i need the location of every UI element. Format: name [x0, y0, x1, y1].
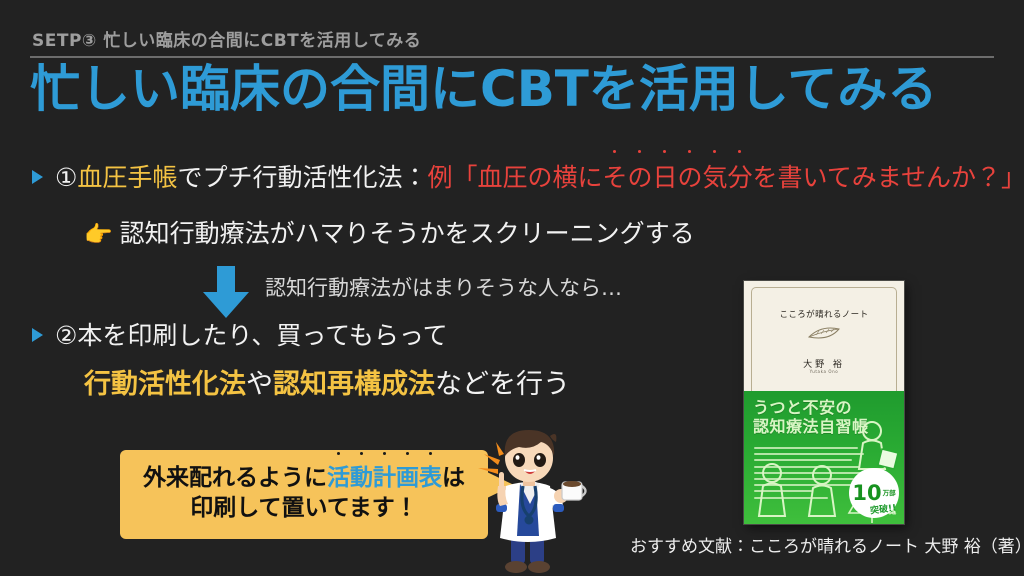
book-author-romaji: Yutaka Ono: [744, 369, 904, 374]
recommended-reading-caption: おすすめ文献：こころが晴れるノート 大野 裕（著）: [630, 532, 1024, 557]
arrow-down-icon: [203, 266, 249, 318]
row3-text: ②本を印刷したり、買ってもらって: [55, 321, 448, 350]
leaf-icon: [807, 325, 841, 345]
emphasis-dots: [327, 452, 442, 455]
row2-text: 認知行動療法がハマりそうかをスクリーニングする: [120, 219, 695, 248]
row1-example-prefix: 例「血圧の横に: [427, 163, 602, 192]
emphasis-dots: [602, 150, 752, 153]
page-title: 忙しい臨床の合間にCBTを活用してみる: [30, 60, 937, 118]
doctor-character-illustration: [466, 424, 594, 576]
band-title-line-1: うつと不安の: [753, 399, 869, 418]
person-illustration-middle: [800, 464, 848, 520]
book-obi-band: うつと不安の 認知療法自習帳: [744, 391, 904, 524]
book-cover-image: こころが晴れるノート 大野 裕 Yutaka Ono うつと不安の 認知療法自習…: [744, 281, 904, 524]
row1-number: ①: [55, 163, 77, 192]
badge-number: 10: [852, 483, 881, 504]
balloon-emphasized: 活動計画表: [327, 465, 442, 491]
row1-example-suffix: を書いてみませんか？」: [752, 163, 1024, 192]
triangle-right-icon: [32, 170, 43, 184]
row1-text-white: でプチ行動活性化法：: [177, 163, 427, 192]
row4-keyword-2: 認知再構成法: [273, 369, 435, 400]
row1-example-emphasized: その日の気分: [602, 163, 752, 192]
speech-balloon: 外来配れるように活動計画表は 印刷して置いてます！: [120, 450, 488, 539]
bullet-row-1: ①血圧手帳でプチ行動活性化法：例「血圧の横にその日の気分を書いてみませんか？」: [32, 164, 1024, 192]
slide-kicker: SETP③ 忙しい臨床の合間にCBTを活用してみる: [32, 26, 421, 51]
triangle-right-icon: [32, 328, 43, 342]
row4-suffix: などを行う: [435, 369, 570, 400]
row4-conjunction: や: [246, 369, 273, 400]
balloon-line-1: 外来配れるように活動計画表は: [134, 463, 474, 493]
slide-canvas: SETP③ 忙しい臨床の合間にCBTを活用してみる 忙しい臨床の合間にCBTを活…: [0, 0, 1024, 576]
balloon-line1-suffix: は: [442, 465, 465, 491]
header-divider: [30, 56, 994, 58]
badge-unit: 万部: [883, 490, 896, 497]
bullet-row-3: ②本を印刷したり、買ってもらって: [32, 322, 448, 350]
arrow-caption: 認知行動療法がはまりそうな人なら…: [265, 272, 622, 302]
balloon-line-2: 印刷して置いてます！: [134, 493, 474, 523]
balloon-line1-prefix: 外来配れるように: [143, 465, 327, 491]
row4-keyword-1: 行動活性化法: [84, 369, 246, 400]
pointing-finger-icon: 👉: [84, 222, 113, 248]
book-top-panel: こころが晴れるノート 大野 裕 Yutaka Ono: [744, 281, 904, 391]
book-title: こころが晴れるノート: [744, 308, 904, 320]
person-illustration-left: [750, 462, 798, 520]
bullet-row-4: 行動活性化法や認知再構成法などを行う: [84, 370, 570, 400]
row1-keyword-yellow: 血圧手帳: [77, 163, 177, 192]
balloon-emphasized-text: 活動計画表: [327, 465, 442, 491]
row1-emphasized-text: その日の気分: [602, 163, 752, 192]
bullet-row-2: 👉認知行動療法がハマりそうかをスクリーニングする: [84, 220, 695, 248]
